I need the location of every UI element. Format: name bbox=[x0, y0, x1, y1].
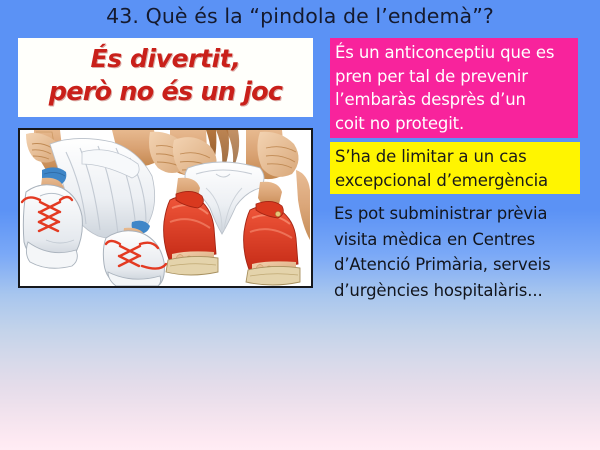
answer-line: S’ha de limitar a un cas bbox=[335, 145, 575, 169]
slide-canvas: 43. Què és la “pindola de l’endemà”? És … bbox=[0, 0, 600, 450]
poster-headline-line-1: És divertit, bbox=[91, 44, 241, 73]
answer-line: excepcional d’emergència bbox=[335, 169, 575, 193]
legs-and-shoes-illustration bbox=[20, 130, 311, 286]
poster-headline-line-2: però no és un joc bbox=[49, 77, 282, 107]
poster-headline-text: És divertit, però no és un joc bbox=[18, 42, 313, 109]
answer-block-emergency-limit-text: S’ha de limitar a un cas excepcional d’e… bbox=[335, 145, 575, 192]
answer-line: coit no protegit. bbox=[335, 112, 573, 136]
answer-line: És un anticonceptiu que es bbox=[335, 41, 573, 65]
poster-headline-panel: És divertit, però no és un joc bbox=[18, 38, 313, 117]
poster-illustration: És divertit, però no és un joc bbox=[18, 38, 313, 288]
answer-block-contraceptive-text: És un anticonceptiu que es pren per tal … bbox=[335, 41, 573, 135]
page-title: 43. Què és la “pindola de l’endemà”? bbox=[0, 2, 600, 30]
poster-photo bbox=[18, 128, 313, 288]
answer-line: Es pot subministrar prèvia bbox=[334, 201, 588, 227]
answer-line: d’Atenció Primària, serveis bbox=[334, 252, 588, 278]
answer-line: l’embaràs desprès d’un bbox=[335, 88, 573, 112]
answer-block-contraceptive: És un anticonceptiu que es pren per tal … bbox=[330, 38, 578, 138]
answer-line: pren per tal de prevenir bbox=[335, 65, 573, 89]
answer-block-where-to-get: Es pot subministrar prèvia visita mèdica… bbox=[330, 198, 592, 308]
answer-block-where-to-get-text: Es pot subministrar prèvia visita mèdica… bbox=[334, 201, 588, 303]
answer-line: d’urgències hospitalàris... bbox=[334, 278, 588, 304]
answer-block-emergency-limit: S’ha de limitar a un cas excepcional d’e… bbox=[330, 142, 580, 194]
answer-line: visita mèdica en Centres bbox=[334, 227, 588, 253]
